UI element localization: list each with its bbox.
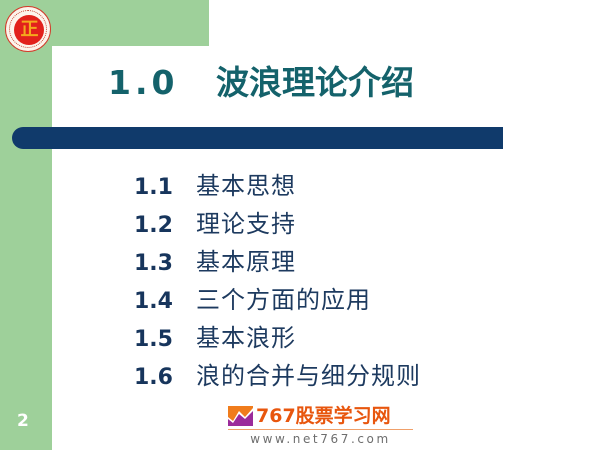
agenda-list: 1.1 基本思想 1.2 理论支持 1.3 基本原理 1.4 三个方面的应用 1… (134, 166, 564, 394)
watermark-divider (228, 429, 413, 430)
list-item[interactable]: 1.6 浪的合并与细分规则 (134, 356, 564, 394)
title-number: 1.0 (108, 63, 178, 102)
page-title: 1.0 波浪理论介绍 (108, 56, 414, 104)
list-item-number: 1.4 (134, 289, 196, 314)
green-left-column (0, 0, 52, 450)
list-item-label: 基本思想 (196, 166, 296, 201)
list-item-number: 1.6 (134, 365, 196, 390)
list-item-number: 1.5 (134, 327, 196, 352)
list-item-number: 1.2 (134, 213, 196, 238)
presentation-slide: 正 1.0 波浪理论介绍 1.1 基本思想 1.2 理论支持 1.3 基本原理 … (0, 0, 600, 450)
list-item[interactable]: 1.4 三个方面的应用 (134, 280, 564, 318)
list-item-number: 1.1 (134, 175, 196, 200)
list-item-label: 基本原理 (196, 242, 296, 277)
site-watermark[interactable]: 767股票学习网 www.net767.com (228, 404, 418, 446)
list-item-label: 理论支持 (196, 204, 296, 239)
watermark-brand-row: 767股票学习网 (228, 404, 418, 428)
list-item[interactable]: 1.1 基本思想 (134, 166, 564, 204)
page-number: 2 (17, 411, 29, 431)
stock-chart-icon (228, 406, 253, 426)
list-item-label: 三个方面的应用 (196, 280, 371, 315)
list-item[interactable]: 1.2 理论支持 (134, 204, 564, 242)
list-item-label: 浪的合并与细分规则 (196, 356, 421, 391)
watermark-url: www.net767.com (228, 432, 413, 446)
university-emblem-logo: 正 (5, 6, 51, 52)
list-item[interactable]: 1.5 基本浪形 (134, 318, 564, 356)
title-text: 波浪理论介绍 (216, 63, 414, 102)
list-item-number: 1.3 (134, 251, 196, 276)
list-item[interactable]: 1.3 基本原理 (134, 242, 564, 280)
watermark-brand-text: 767股票学习网 (256, 406, 391, 426)
emblem-glyph: 正 (6, 7, 51, 52)
list-item-label: 基本浪形 (196, 318, 296, 353)
navy-divider-bar (12, 127, 503, 149)
